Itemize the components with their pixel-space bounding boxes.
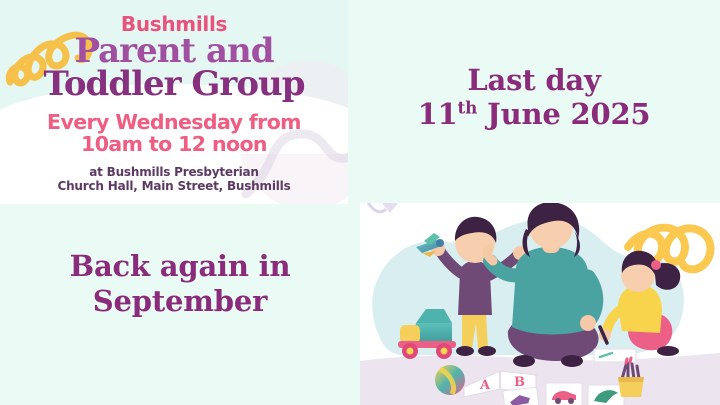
poster-title: Parent and Toddler Group bbox=[43, 35, 304, 100]
poster-venue: at Bushmills Presbyterian Church Hall, M… bbox=[57, 165, 290, 194]
poster-venue-line-2: Church Hall, Main Street, Bushmills bbox=[57, 179, 290, 193]
back-again-panel: Back again in September bbox=[0, 204, 360, 405]
poster-title-line-2: Toddler Group bbox=[43, 68, 304, 101]
last-day-panel: Last day 11th June 2025 bbox=[348, 0, 720, 204]
last-day-day-number: 11 bbox=[418, 97, 458, 131]
parent-toddler-group-poster: Bushmills Parent and Toddler Group Every… bbox=[0, 0, 348, 204]
playgroup-illustration: A B bbox=[360, 203, 720, 405]
back-again-line-2: September bbox=[93, 284, 267, 318]
book-letter-a: A bbox=[479, 378, 491, 393]
floor bbox=[360, 353, 720, 405]
last-day-line-1: Last day bbox=[467, 63, 600, 97]
last-day-ordinal-suffix: th bbox=[458, 97, 478, 117]
last-day-month-year: June 2025 bbox=[487, 97, 650, 131]
back-again-line-1: Back again in bbox=[70, 249, 291, 283]
poster-schedule-line-1: Every Wednesday from bbox=[47, 110, 301, 134]
striped-ball bbox=[435, 365, 465, 395]
poster-schedule-line-2: 10am to 12 noon bbox=[81, 132, 267, 156]
book-letter-b: B bbox=[514, 375, 525, 390]
poster-title-line-1: Parent and bbox=[43, 35, 304, 68]
flyer-canvas: Bushmills Parent and Toddler Group Every… bbox=[0, 0, 720, 405]
poster-venue-line-1: at Bushmills Presbyterian bbox=[89, 165, 259, 179]
last-day-date: 11th June 2025 bbox=[418, 97, 651, 131]
poster-schedule: Every Wednesday from 10am to 12 noon bbox=[47, 112, 301, 155]
